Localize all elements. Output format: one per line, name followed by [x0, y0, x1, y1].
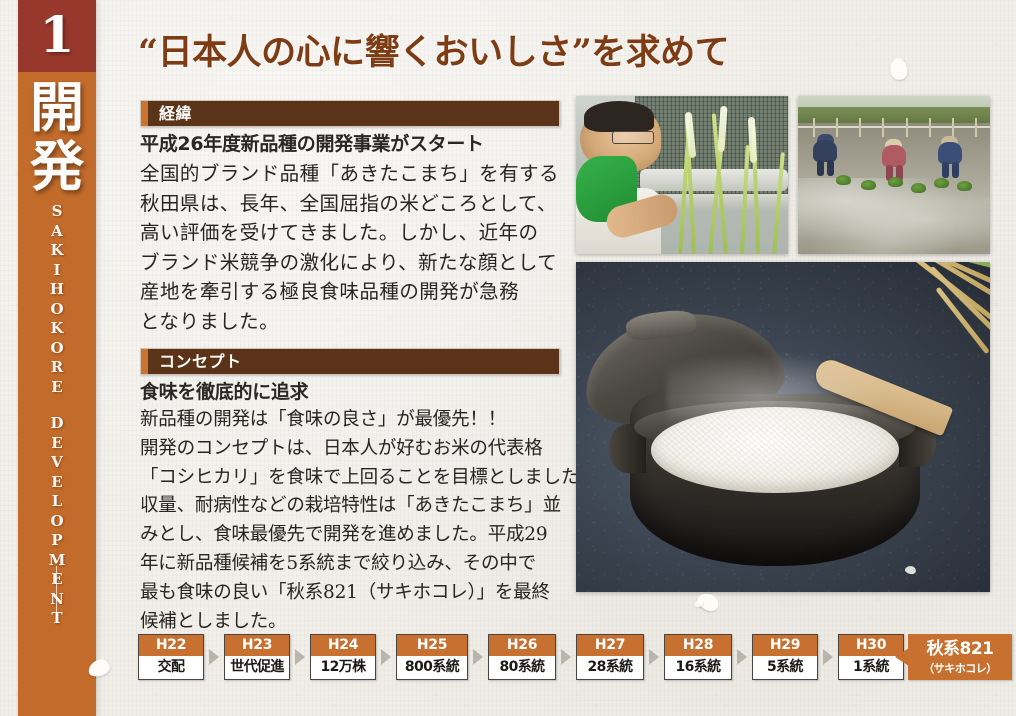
timeline-arrow-icon — [737, 649, 747, 665]
romaji-development-o: O — [18, 512, 96, 532]
timeline-step-h29-year: H29 — [753, 635, 817, 656]
timeline-step-h22[interactable]: H22 交配 — [138, 634, 204, 680]
timeline-final-variety-alias: （サキホコレ） — [908, 662, 1012, 675]
timeline-step-h24-year: H24 — [311, 635, 375, 656]
romaji-development-t: T — [18, 609, 96, 629]
section-kanji-1: 開 — [18, 78, 96, 137]
timeline-step-h27-year: H27 — [577, 635, 643, 656]
section-number: 1 — [18, 6, 96, 64]
romaji-sakihokore-o2: O — [18, 339, 96, 359]
concept-line-3: 「コシヒカリ」を食味で上回ることを目標としました。 — [140, 464, 570, 493]
photo2-stake — [882, 118, 884, 137]
sidebar-band: 1 開 発 S A K I H O K O R E D E V E L O P … — [18, 0, 96, 716]
photo2-stake — [929, 118, 931, 137]
section-concept-body: 新品種の開発は「食味の良さ」が最優先！！ 開発のコンセプトは、日本人が好むお米の… — [140, 406, 570, 636]
romaji-development-e2: E — [18, 473, 96, 493]
timeline-arrow-icon — [381, 649, 391, 665]
timeline-step-h22-year: H22 — [139, 635, 203, 656]
keii-line-1: 全国的ブランド品種「あきたこまち」を有する — [140, 159, 570, 189]
keii-line-4: ブランド米競争の激化により、新たな顔として — [140, 248, 570, 278]
section-title-kanji: 開 発 — [18, 78, 96, 196]
timeline-step-h22-value: 交配 — [139, 656, 203, 678]
timeline-step-h25-value: 800系統 — [397, 656, 467, 678]
rice-planting-paddy-field-photo — [798, 96, 990, 254]
romaji-gap — [18, 397, 96, 414]
timeline-arrow-icon — [649, 649, 659, 665]
concept-line-6: 年に新品種候補を5系統まで絞り込み、その中で — [140, 550, 570, 579]
timeline-step-h30-year: H30 — [839, 635, 903, 656]
donabe-cooked-rice-photo — [576, 262, 990, 592]
timeline-step-h28-value: 16系統 — [665, 656, 731, 678]
poster-page: 1 開 発 S A K I H O K O R E D E V E L O P … — [0, 0, 1016, 716]
photo2-guide-rope — [798, 126, 990, 128]
timeline-step-h23[interactable]: H23 世代促進 — [224, 634, 290, 680]
keii-line-6: となりました。 — [140, 307, 570, 337]
timeline-step-h26[interactable]: H26 80系統 — [488, 634, 556, 680]
timeline-arrow-icon — [209, 649, 219, 665]
romaji-development-p: P — [18, 531, 96, 551]
romaji-sakihokore-s: S — [18, 202, 96, 222]
photo1-person-hair — [584, 101, 654, 133]
concept-line-5: みとし、食味最優先で開発を進めました。平成29 — [140, 521, 570, 550]
section-concept-subhead: 食味を徹底的に追求 — [140, 377, 308, 404]
romaji-development-e: E — [18, 434, 96, 454]
romaji-sakihokore-k2: K — [18, 319, 96, 339]
romaji-development-d: D — [18, 414, 96, 434]
romaji-development-e3: E — [18, 570, 96, 590]
romaji-sakihokore-i: I — [18, 261, 96, 281]
timeline-step-h28[interactable]: H28 16系統 — [664, 634, 732, 680]
concept-line-8: 候補としました。 — [140, 608, 570, 637]
romaji-development-m: M — [18, 551, 96, 571]
concept-line-1: 新品種の開発は「食味の良さ」が最優先！！ — [140, 406, 570, 435]
timeline-step-h23-year: H23 — [225, 635, 289, 656]
concept-line-4: 収量、耐病性などの栽培特性は「あきたこまち」並 — [140, 492, 570, 521]
keii-line-2: 秋田県は、長年、全国屈指の米どころとして、 — [140, 189, 570, 219]
romaji-sakihokore-k: K — [18, 241, 96, 261]
photo2-stake — [975, 118, 977, 137]
romaji-development-v: V — [18, 453, 96, 473]
romaji-sakihokore-r: R — [18, 358, 96, 378]
concept-line-7: 最も食味の良い「秋系821（サキホコレ）」を最終 — [140, 579, 570, 608]
keii-line-3: 高い評価を受けてきました。しかし、近年の — [140, 218, 570, 248]
timeline-step-h23-value: 世代促進 — [225, 656, 289, 678]
romaji-sakihokore-a: A — [18, 222, 96, 242]
page-title: “日本人の心に響くおいしさ”を求めて — [138, 24, 729, 75]
section-header-concept-label: コンセプト — [159, 350, 242, 374]
timeline-arrow-icon — [823, 649, 833, 665]
romaji-development-n: N — [18, 590, 96, 610]
photo2-stake — [836, 118, 838, 137]
timeline-final-arrow-icon — [895, 648, 909, 666]
photo2-stake — [906, 118, 908, 137]
photo2-stake — [813, 118, 815, 137]
photo2-seedling-bundle — [957, 181, 972, 191]
photo2-seedling-bundle — [888, 177, 903, 187]
section-keii-body: 全国的ブランド品種「あきたこまち」を有する 秋田県は、長年、全国屈指の米どころと… — [140, 159, 570, 336]
romaji-sakihokore-o: O — [18, 300, 96, 320]
researcher-crossbreeding-rice-photo — [576, 96, 788, 254]
timeline-final-variety-name: 秋系821 — [908, 634, 1012, 662]
section-romaji: S A K I H O K O R E D E V E L O P M E N … — [18, 202, 96, 629]
section-header-concept: コンセプト — [140, 348, 560, 375]
photo2-seedling-bundle — [861, 180, 876, 190]
timeline-arrow-icon — [561, 649, 571, 665]
timeline-final-variety[interactable]: 秋系821 （サキホコレ） — [908, 634, 1012, 680]
romaji-development-l: L — [18, 492, 96, 512]
timeline-step-h27-value: 28系統 — [577, 656, 643, 678]
timeline-step-h24[interactable]: H24 12万株 — [310, 634, 376, 680]
timeline-step-h27[interactable]: H27 28系統 — [576, 634, 644, 680]
section-header-keii: 経緯 — [140, 100, 560, 127]
timeline-arrow-icon — [295, 649, 305, 665]
photo2-seedling-bundle — [836, 175, 851, 185]
timeline-step-h26-year: H26 — [489, 635, 555, 656]
timeline-step-h25-year: H25 — [397, 635, 467, 656]
timeline-step-h29[interactable]: H29 5系統 — [752, 634, 818, 680]
timeline-step-h25[interactable]: H25 800系統 — [396, 634, 468, 680]
photo2-stake — [952, 118, 954, 137]
photo3-steam — [667, 348, 899, 427]
timeline-step-h28-year: H28 — [665, 635, 731, 656]
romaji-sakihokore-e: E — [18, 378, 96, 398]
section-header-keii-label: 経緯 — [159, 102, 192, 126]
timeline-step-h26-value: 80系統 — [489, 656, 555, 678]
photo1-person-glasses — [612, 131, 654, 144]
timeline-step-h29-value: 5系統 — [753, 656, 817, 678]
sidebar-vertical-rule — [56, 566, 57, 622]
timeline-step-h30-value: 1系統 — [839, 656, 903, 678]
photo1-rice-plants — [674, 109, 788, 254]
romaji-sakihokore-h: H — [18, 280, 96, 300]
photo2-seedling-bundle — [934, 178, 949, 188]
concept-line-2: 開発のコンセプトは、日本人が好むお米の代表格 — [140, 435, 570, 464]
photo2-seedling-bundle — [911, 183, 926, 193]
section-keii-subhead: 平成26年度新品種の開発事業がスタート — [140, 129, 484, 156]
section-kanji-2: 発 — [18, 137, 96, 196]
timeline-arrow-icon — [473, 649, 483, 665]
photo2-stake — [859, 118, 861, 137]
keii-line-5: 産地を牽引する極良食味品種の開発が急務 — [140, 277, 570, 307]
timeline-step-h24-value: 12万株 — [311, 656, 375, 678]
